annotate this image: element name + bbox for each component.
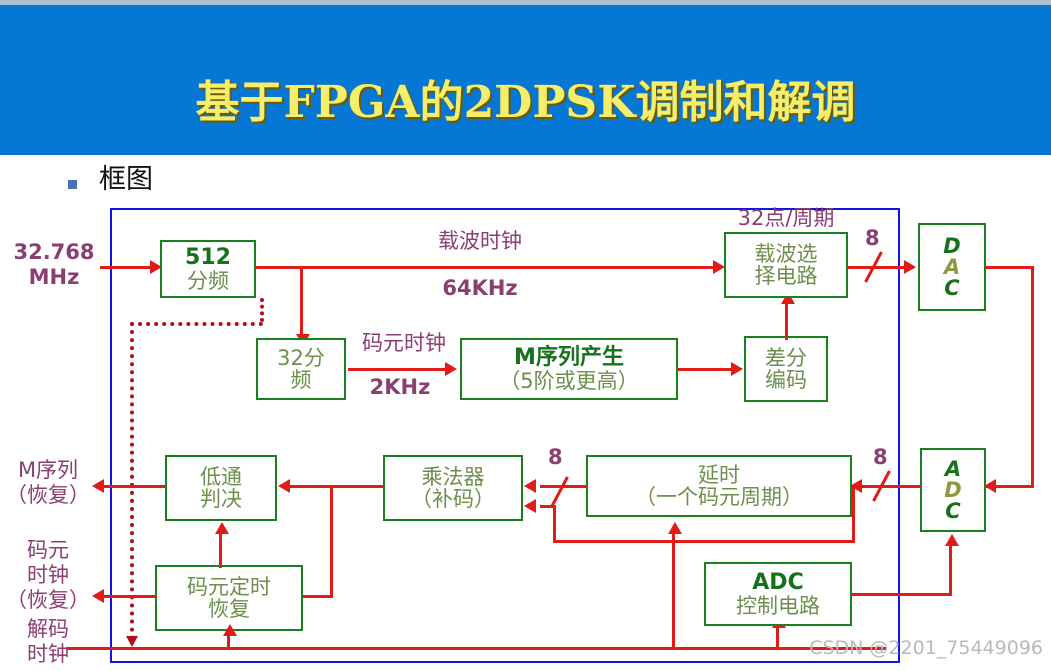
- arrow-carriersel-to-dac: [904, 260, 916, 274]
- bus-width-multiplier-label: 8: [548, 445, 563, 469]
- block-m-sequence-generator: M序列产生 （5阶或更高）: [460, 338, 678, 400]
- block-dac-line3: C: [944, 278, 959, 299]
- wire-symtiming-to-lowpass: [219, 530, 222, 568]
- mseq-output-label: M序列 （恢复）: [2, 458, 94, 508]
- arrow-delay-to-multiplier-top: [524, 479, 536, 493]
- block-symtiming-line2: 恢复: [208, 598, 250, 620]
- symclk-output-line1: 码元: [2, 538, 94, 563]
- block-multiplier: 乘法器 （补码）: [383, 455, 523, 521]
- arrow-mseq-to-diffenc: [731, 362, 743, 376]
- block-differential-encoder-line2: 编码: [765, 369, 807, 391]
- block-dac-line2: A: [944, 257, 960, 278]
- block-lowpass-line2: 判决: [200, 488, 242, 510]
- wire-lowpass-to-mseq-out: [103, 485, 166, 488]
- block-carrier-select-line1: 载波选: [755, 243, 818, 265]
- block-divider-512-line2: 分频: [187, 270, 229, 292]
- block-symbol-timing-recovery: 码元定时 恢复: [155, 565, 303, 631]
- wire-adc-tap-up-to-adcline: [852, 485, 855, 542]
- wire-symbol-clock: [348, 368, 448, 371]
- block-m-sequence-line2: （5阶或更高）: [499, 370, 638, 392]
- wire-dac-out: [986, 266, 1034, 269]
- points-per-period-label: 32点/周期: [716, 206, 856, 231]
- carrier-freq-label: 64KHz: [380, 276, 580, 301]
- wire-adc-to-delay: [854, 485, 922, 488]
- arrow-symtiming-to-lowpass: [215, 522, 229, 534]
- arrow-decclk-to-delay: [668, 522, 682, 534]
- block-m-sequence-line1-text: M序列产生: [514, 345, 624, 370]
- block-adc-control: ADC 控制电路: [704, 562, 852, 626]
- block-adc-line1: A: [945, 459, 961, 480]
- dotted-wire-div512-down: [260, 298, 264, 322]
- block-dac-line1: D: [943, 236, 960, 257]
- wire-symtiming-to-symclk-out: [103, 595, 157, 598]
- block-divider-32: 32分 频: [256, 338, 346, 400]
- section-heading: 框图: [99, 164, 153, 196]
- block-carrier-select-line2: 择电路: [755, 265, 818, 287]
- bus-width-adc-label: 8: [873, 445, 888, 469]
- arrow-adcctrl-to-adc: [945, 534, 959, 546]
- dotted-wire-feedback-down: [130, 322, 134, 640]
- symbol-freq-value: 2KHz: [370, 375, 431, 399]
- block-adc-line2: D: [944, 480, 961, 501]
- block-dac: D A C: [918, 223, 986, 311]
- decode-clock-label: 解码 时钟: [2, 617, 94, 667]
- block-multiplier-line1: 乘法器: [422, 466, 485, 488]
- slide: 基于FPGA的2DPSK调制和解调 框图 32.768 MHz 512 分频 载…: [0, 0, 1051, 671]
- wire-adc-tap-riser: [553, 505, 556, 543]
- wire-adc-tap-under-delay: [553, 540, 855, 543]
- wire-diffenc-to-carriersel: [785, 300, 788, 340]
- symbol-clock-output-label: 码元 时钟 （恢复）: [2, 538, 94, 613]
- bus-width-dac-label: 8: [865, 226, 880, 250]
- block-delay-line2: （一个码元周期）: [635, 486, 803, 508]
- wire-clockin-to-div512: [100, 266, 152, 269]
- carrier-freq-value: 64KHz: [442, 276, 517, 300]
- block-adcctrl-line2: 控制电路: [736, 595, 820, 617]
- decode-clock-line2: 时钟: [2, 642, 94, 667]
- wire-carrier-clock: [256, 266, 716, 269]
- wire-dac-loop-down: [1031, 266, 1034, 488]
- watermark: CSDN @2201_75449096: [809, 637, 1043, 659]
- carrier-clock-name: 载波时钟: [438, 229, 522, 253]
- wire-adcctrl-riser: [949, 544, 952, 596]
- block-adc: A D C: [920, 448, 986, 532]
- block-adcctrl-line1: ADC: [752, 571, 803, 594]
- points-per-period-value: 32点/周期: [738, 206, 835, 230]
- mseq-output-line2: （恢复）: [2, 483, 94, 508]
- block-lowpass-decision: 低通 判决: [165, 455, 277, 521]
- dotted-wire-feedback-left: [130, 322, 263, 326]
- block-differential-encoder-line1: 差分: [765, 347, 807, 369]
- block-carrier-select: 载波选 择电路: [724, 232, 848, 298]
- arrow-decclk-to-symtiming: [223, 624, 237, 636]
- block-adc-line3: C: [945, 501, 960, 522]
- block-divider-512-line1: 512: [185, 246, 231, 269]
- symbol-clock-name: 码元时钟: [362, 331, 446, 355]
- block-divider-32-line1: 32分: [277, 347, 325, 369]
- symbol-freq-label: 2KHz: [348, 375, 452, 400]
- block-lowpass-line1: 低通: [200, 466, 242, 488]
- wire-adcctrl-to-adc: [852, 593, 951, 596]
- block-divider-512: 512 分频: [160, 240, 256, 298]
- block-diagram: 32.768 MHz 512 分频 载波时钟 64KHz 32分: [0, 200, 1051, 671]
- page-title: 基于FPGA的2DPSK调制和解调: [0, 77, 1051, 129]
- input-clock-label: 32.768 MHz: [6, 240, 102, 290]
- arrow-adc-tap-to-multiplier: [524, 499, 536, 513]
- symclk-output-line3: （恢复）: [2, 588, 94, 613]
- arrow-dotted-feedback: [126, 636, 138, 647]
- wire-carrier-branch-down: [300, 266, 303, 340]
- input-clock-unit: MHz: [6, 265, 102, 290]
- arrow-multiplier-to-lowpass: [278, 479, 290, 493]
- wire-decclk-to-delay: [672, 530, 675, 648]
- block-delay-line1: 延时: [698, 464, 740, 486]
- symclk-output-line2: 时钟: [2, 563, 94, 588]
- wire-multiplier-to-lowpass: [290, 485, 383, 488]
- block-multiplier-line2: （补码）: [411, 488, 495, 510]
- block-divider-32-line2: 频: [291, 369, 312, 391]
- wire-mseq-to-diffenc: [678, 368, 734, 371]
- wire-branch-to-symtiming: [330, 485, 333, 598]
- input-clock-value: 32.768: [6, 240, 102, 265]
- block-m-sequence-line1: M序列产生: [514, 346, 624, 369]
- block-symtiming-line1: 码元定时: [187, 576, 271, 598]
- title-banner: 基于FPGA的2DPSK调制和解调: [0, 5, 1051, 155]
- bullet-marker-icon: [68, 180, 77, 189]
- block-delay: 延时 （一个码元周期）: [586, 455, 852, 517]
- symbol-clock-label: 码元时钟: [348, 331, 460, 356]
- mseq-output-line1: M序列: [2, 458, 94, 483]
- carrier-clock-label: 载波时钟: [380, 229, 580, 254]
- block-differential-encoder: 差分 编码: [744, 336, 828, 402]
- arrow-symbol-clock: [445, 362, 457, 376]
- wire-decode-clock-bus: [66, 647, 886, 650]
- decode-clock-line1: 解码: [2, 617, 94, 642]
